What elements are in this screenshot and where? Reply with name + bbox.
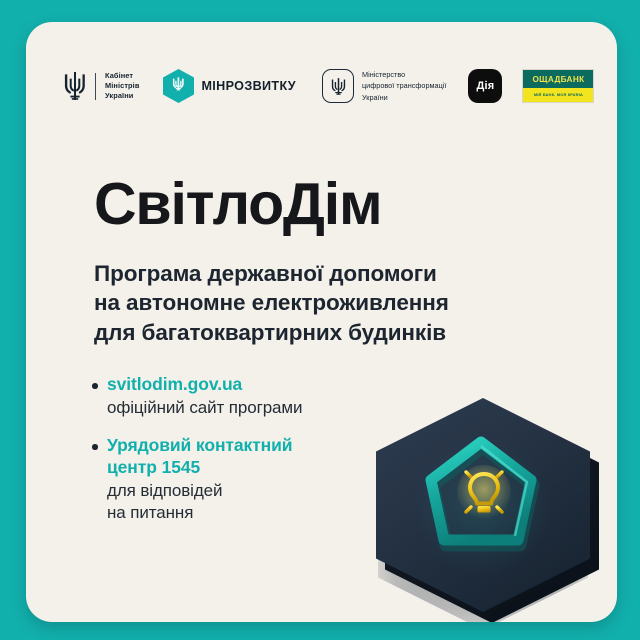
hotline-label-line-2: центр 1545 (107, 457, 200, 477)
subtitle-line-2: на автономне електроживлення (94, 290, 449, 315)
logo-divider (95, 73, 96, 100)
page-title: СвітлоДім (94, 175, 381, 234)
hotline-caption-line-1: для відповідей (107, 481, 222, 500)
poster-card: Кабінет Міністрів України (26, 22, 617, 622)
hotline-label-line-1: Урядовий контактний (107, 435, 292, 455)
logo-ministry-digital-transformation: Міністерство цифрової трансформації Укра… (322, 69, 446, 103)
logo-cabinet-of-ministers-text: Кабінет Міністрів України (105, 71, 139, 102)
cabmin-line-2: Міністрів (105, 81, 139, 90)
logo-diia-label: Дія (476, 80, 494, 92)
hex-tryzub-icon (163, 69, 194, 103)
hotline-label[interactable]: Урядовий контактний центр 1545 (107, 435, 392, 479)
hotline-caption-line-2: на питання (107, 503, 193, 522)
website-caption: офіційний сайт програми (107, 397, 392, 419)
mindigital-line-1: Міністерство (362, 70, 405, 79)
tryzub-icon (64, 71, 86, 101)
contact-list: svitlodim.gov.ua офіційний сайт програми… (92, 374, 392, 540)
cabmin-line-1: Кабінет (105, 71, 133, 80)
hexagon-house-lightbulb-badge (352, 374, 617, 622)
logo-cabinet-of-ministers: Кабінет Міністрів України (64, 71, 139, 102)
logo-oschadbank-name: ОЩАДБАНК (523, 70, 593, 88)
mindigital-line-3: України (362, 93, 388, 102)
lightbulb-icon (456, 462, 512, 524)
partner-logo-bar: Кабінет Міністрів України (64, 60, 595, 112)
logo-ministry-digital-text: Міністерство цифрової трансформації Укра… (362, 69, 446, 102)
list-item-hotline: Урядовий контактний центр 1545 для відпо… (92, 435, 392, 523)
hotline-caption: для відповідей на питання (107, 480, 392, 523)
subtitle-line-1: Програма державної допомоги (94, 261, 437, 286)
logo-minrozvytku: МІНРОЗВИТКУ (163, 69, 296, 103)
tryzub-boxed-icon (322, 69, 354, 103)
logo-minrozvytku-label: МІНРОЗВИТКУ (201, 79, 296, 93)
mindigital-line-2: цифрової трансформації (362, 81, 446, 90)
logo-oschadbank: ОЩАДБАНК МІЙ БАНК. МОЯ КРАЇНА (522, 69, 594, 103)
logo-oschadbank-slogan: МІЙ БАНК. МОЯ КРАЇНА (523, 88, 593, 102)
subtitle-line-3: для багатоквартирних будинків (94, 320, 446, 345)
list-item-website: svitlodim.gov.ua офіційний сайт програми (92, 374, 392, 418)
website-link[interactable]: svitlodim.gov.ua (107, 374, 392, 396)
logo-diia: Дія (468, 69, 502, 103)
cabmin-line-3: України (105, 91, 133, 100)
page-subtitle: Програма державної допомоги на автономне… (94, 259, 449, 347)
